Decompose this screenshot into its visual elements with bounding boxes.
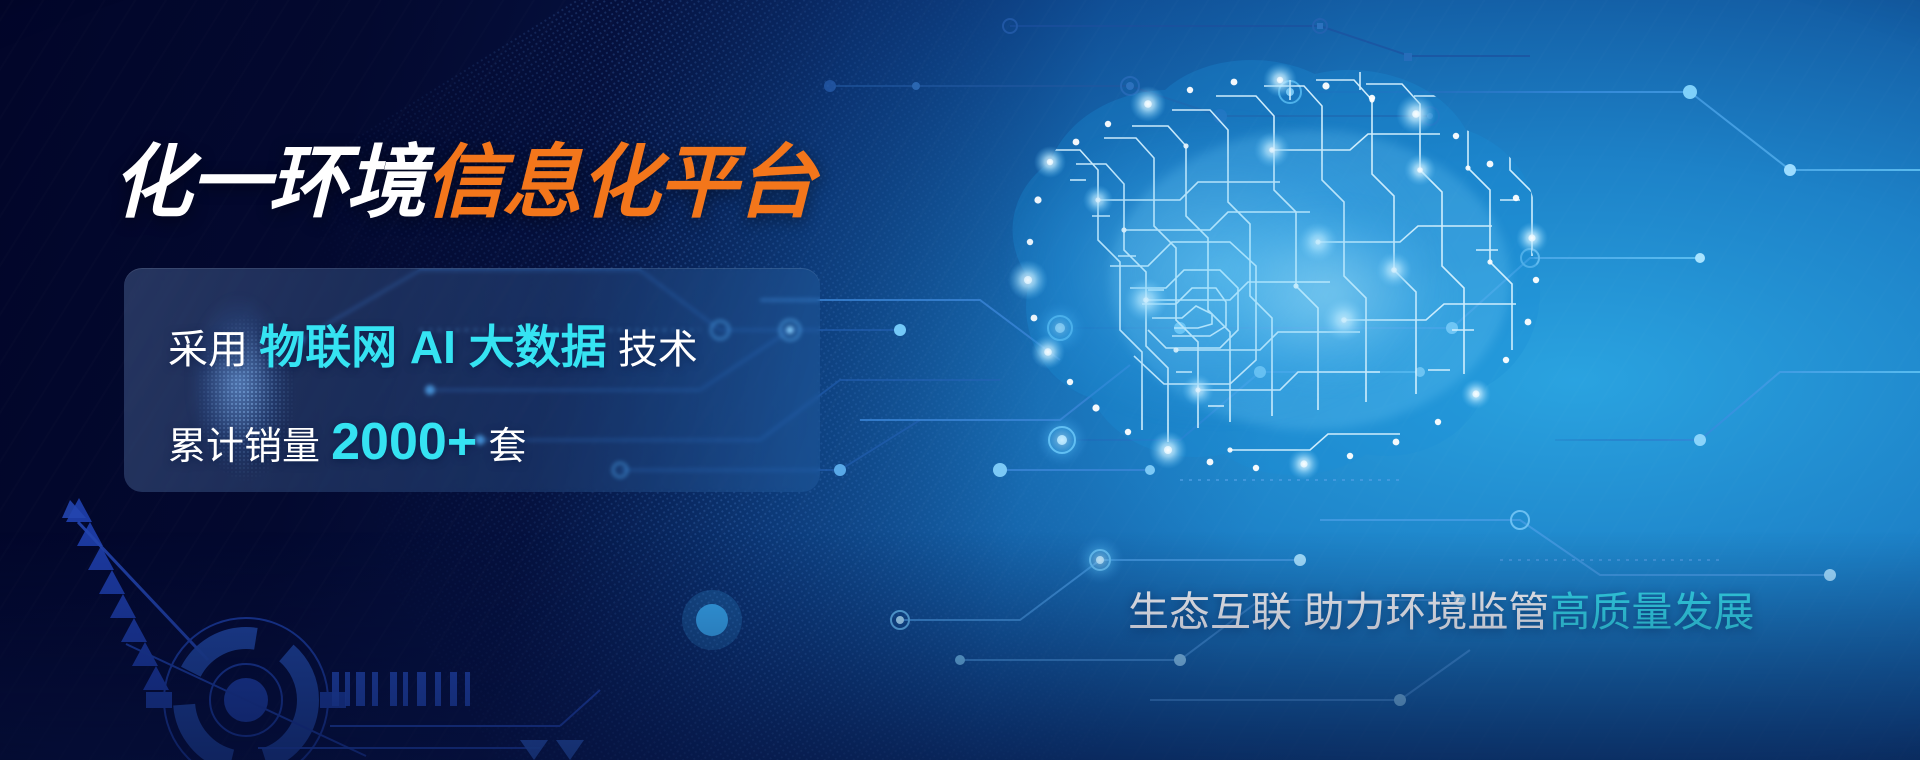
line2-suffix: 套 xyxy=(488,426,526,468)
title-accent: 信息化平台 xyxy=(424,138,814,227)
bottom-glow-overlay xyxy=(0,532,1920,760)
banner-title: 化一环境信息化平台 xyxy=(112,143,814,223)
promo-banner: 化一环境信息化平台 采用 物联网 AI 大数据 技术 累计销量 2000+ 套 … xyxy=(0,0,1920,760)
line2-highlight: 2000+ xyxy=(331,413,477,471)
feature-line-technology: 采用 物联网 AI 大数据 技术 xyxy=(168,324,820,370)
line1-prefix: 采用 xyxy=(168,328,248,372)
line2-prefix: 累计销量 xyxy=(168,426,320,468)
line1-suffix: 技术 xyxy=(618,328,698,372)
feature-line-sales: 累计销量 2000+ 套 xyxy=(168,416,820,468)
line1-highlight: 物联网 AI 大数据 xyxy=(259,321,607,373)
title-primary: 化一环境 xyxy=(112,138,424,227)
feature-card: 采用 物联网 AI 大数据 技术 累计销量 2000+ 套 xyxy=(124,268,820,492)
circuit-brain-icon xyxy=(880,30,1580,500)
